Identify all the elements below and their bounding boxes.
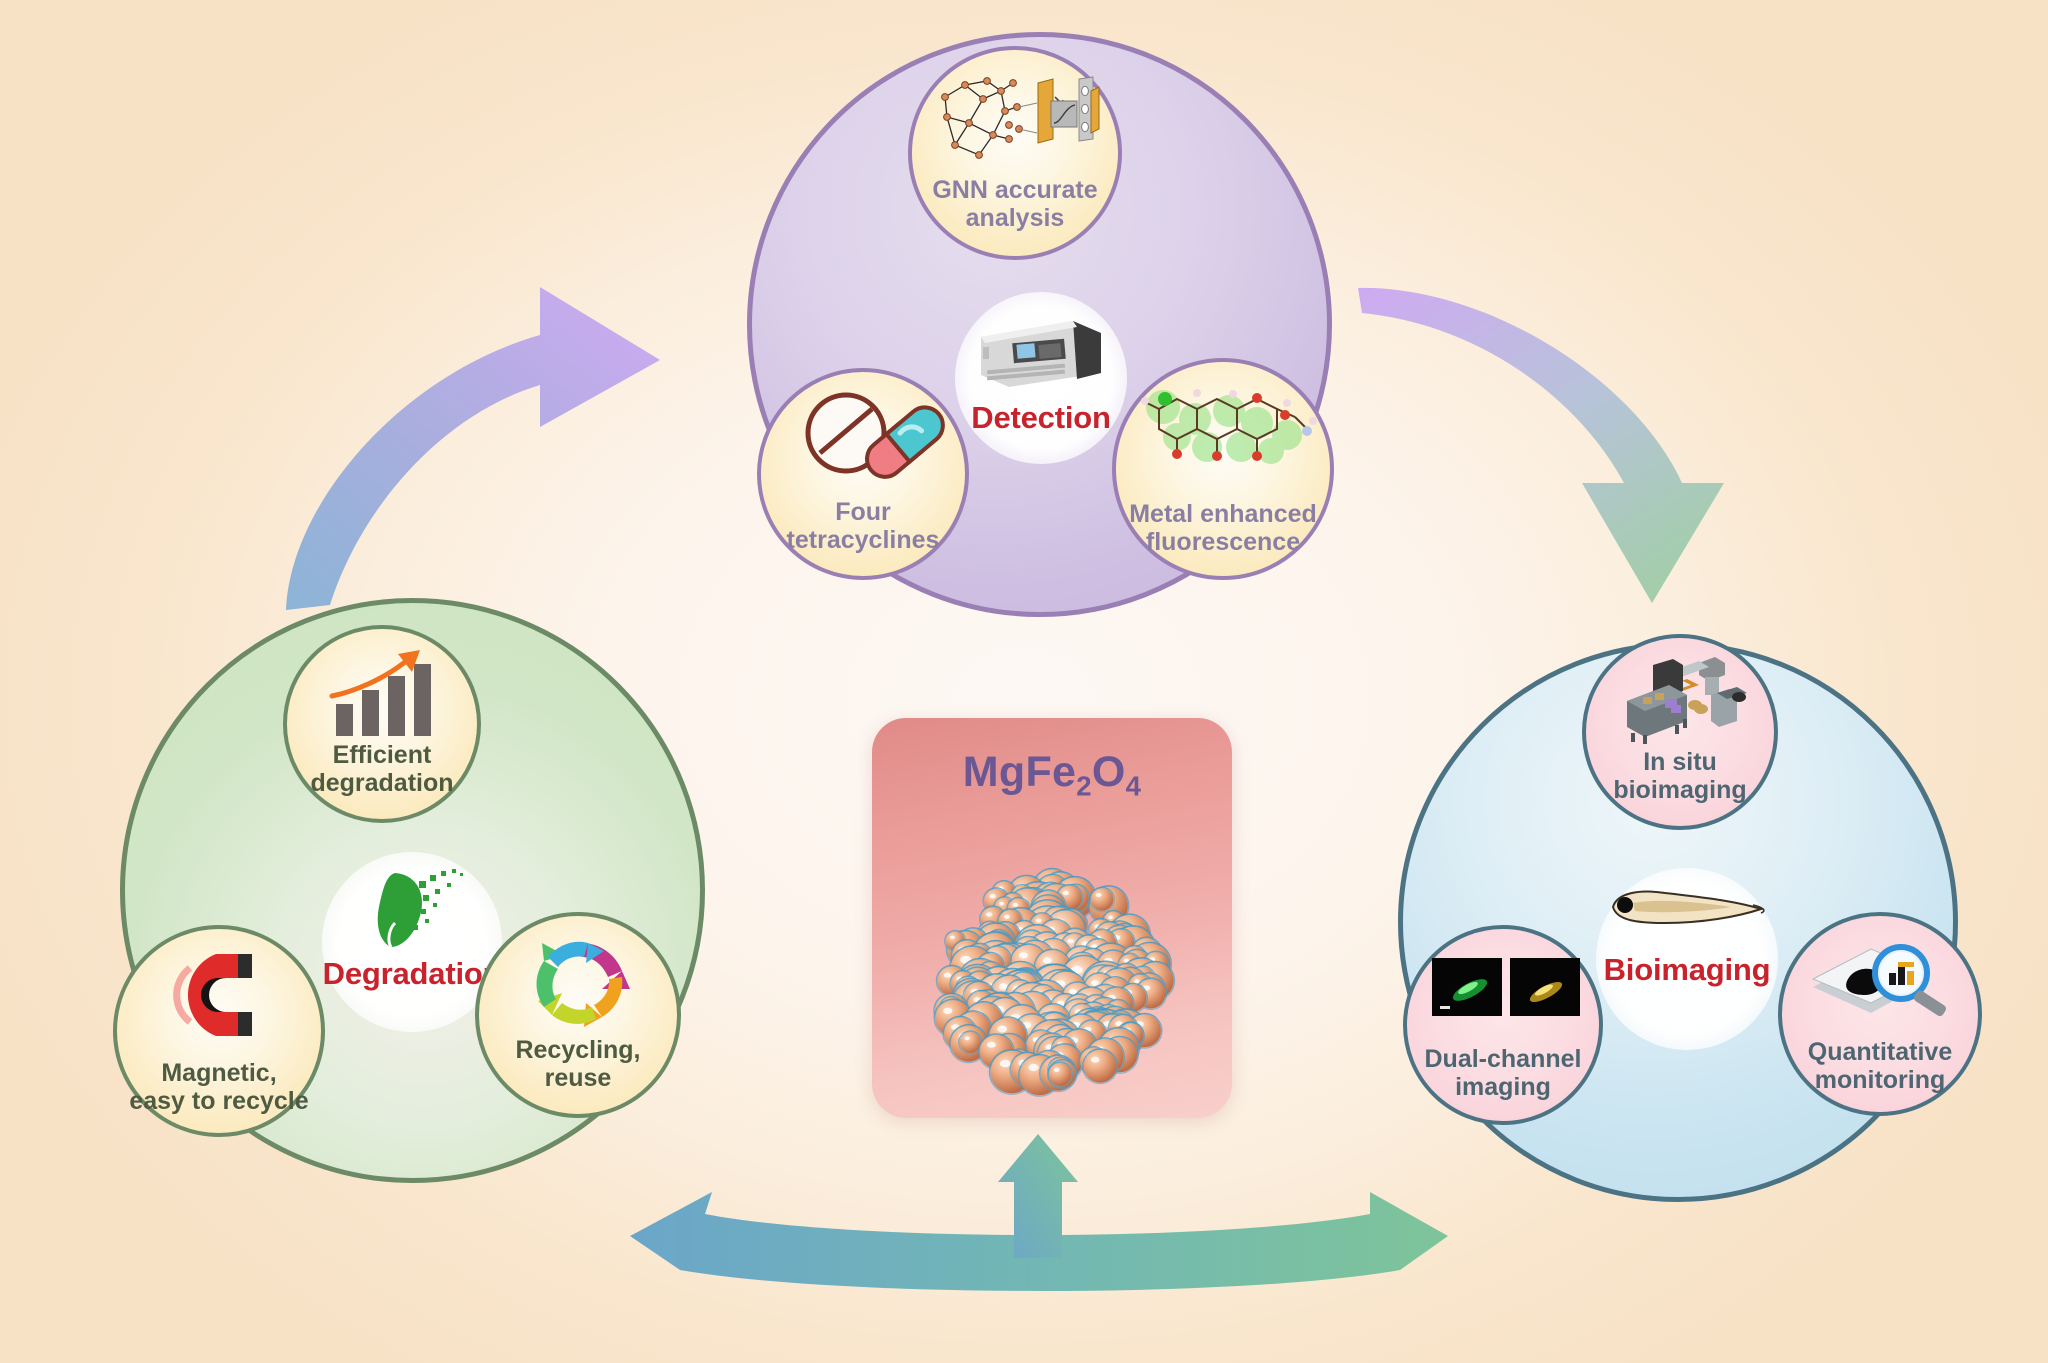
- arrow-bioimaging-to-degradation: [600, 1130, 1470, 1330]
- bubble-dual-channel-imaging[interactable]: Dual-channelimaging: [1403, 925, 1603, 1125]
- arrow-detection-to-bioimaging: [1352, 255, 1782, 605]
- zebrafish-larva-icon: [1604, 882, 1770, 944]
- molecule-fluorescence-icon: [1136, 384, 1320, 478]
- bubble-label: Quantitativemonitoring: [1786, 1038, 1974, 1094]
- bar-chart-growth-icon: [325, 649, 449, 739]
- green-dissolving-leaf-icon: [360, 866, 472, 952]
- graphical-abstract-canvas: Detection: [0, 0, 2048, 1363]
- bubble-gnn-accurate-analysis[interactable]: GNN accurateanalysis: [908, 46, 1122, 260]
- mgfe2o4-formula-label: MgFe2O4: [872, 748, 1232, 803]
- bubble-metal-enhanced-fluorescence[interactable]: Metal enhancedfluorescence: [1112, 358, 1334, 580]
- bioimaging-center-label: Bioimaging: [1604, 952, 1771, 988]
- bubble-four-tetracyclines[interactable]: Fourtetracyclines: [757, 368, 969, 580]
- bioimaging-center-disk: Bioimaging: [1596, 868, 1778, 1050]
- mgfe2o4-material-card: MgFe2O4: [872, 718, 1232, 1118]
- bubble-label: Magnetic,easy to recycle: [121, 1059, 317, 1115]
- fluorescence-microscope-icon: [1612, 654, 1758, 748]
- bubble-label: In situbioimaging: [1590, 748, 1770, 804]
- bubble-label: Recycling,reuse: [483, 1036, 673, 1092]
- neural-network-icon: [938, 76, 1100, 162]
- bubble-efficient-degradation[interactable]: Efficientdegradation: [283, 625, 481, 823]
- bubble-label: Metal enhancedfluorescence: [1120, 500, 1325, 556]
- bubble-in-situ-bioimaging[interactable]: In situbioimaging: [1582, 634, 1778, 830]
- degradation-center-label: Degradation: [323, 956, 502, 992]
- arrow-degradation-to-detection: [250, 255, 680, 655]
- detection-center-label: Detection: [971, 400, 1110, 436]
- nanoparticle-cluster-icon: [898, 860, 1206, 1106]
- bubble-quantitative-monitoring[interactable]: Quantitativemonitoring: [1778, 912, 1982, 1116]
- detection-center-disk: Detection: [955, 292, 1127, 464]
- magnifier-chart-plate-icon: [1806, 936, 1966, 1028]
- pills-capsule-icon: [795, 390, 945, 482]
- bubble-label: Fourtetracyclines: [765, 498, 961, 554]
- bubble-label: Efficientdegradation: [291, 741, 473, 797]
- spectrometer-instrument-icon: [971, 308, 1111, 394]
- dual-fluorescence-images-icon: [1429, 953, 1585, 1023]
- bubble-label: Dual-channelimaging: [1411, 1045, 1595, 1101]
- recycle-arrows-icon: [529, 936, 635, 1032]
- bubble-label: GNN accurateanalysis: [916, 176, 1114, 232]
- horseshoe-magnet-icon: [159, 947, 287, 1043]
- bubble-recycling-reuse[interactable]: Recycling,reuse: [475, 912, 681, 1118]
- bubble-magnetic-easy-to-recycle[interactable]: Magnetic,easy to recycle: [113, 925, 325, 1137]
